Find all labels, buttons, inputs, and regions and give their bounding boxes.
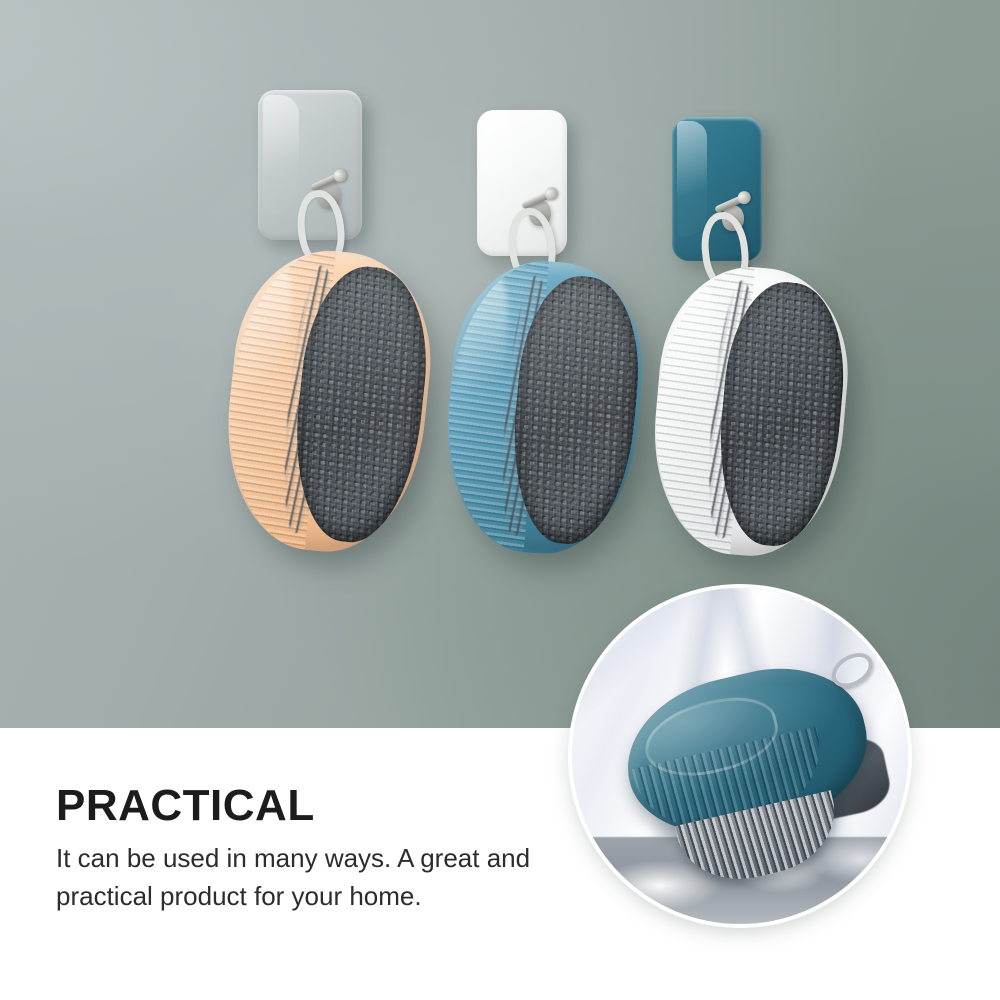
- brush-body-teal: [437, 254, 652, 561]
- body-copy: It can be used in many ways. A great and…: [56, 840, 576, 915]
- brush-white: [644, 260, 856, 563]
- inset-circle-photo: [572, 588, 908, 924]
- product-banner: PRACTICAL It can be used in many ways. A…: [0, 0, 1000, 1000]
- headline: PRACTICAL: [56, 784, 315, 828]
- brush-body-peach: [215, 242, 441, 561]
- brush-peach: [215, 242, 441, 561]
- brush-teal: [437, 254, 652, 561]
- brush-body-white: [644, 260, 856, 563]
